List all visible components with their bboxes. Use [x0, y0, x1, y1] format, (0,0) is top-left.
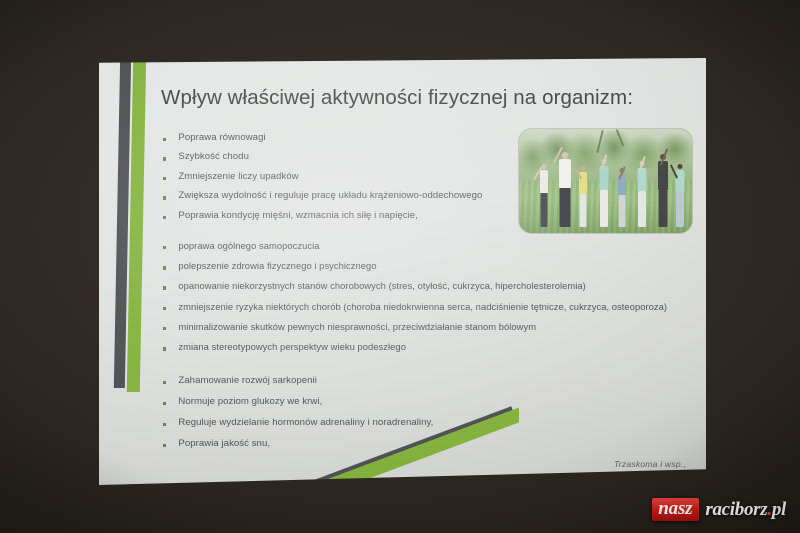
list-item: Zahamowanie rozwój sarkopenii: [161, 375, 694, 387]
photo-figure: [555, 152, 575, 227]
bullet-dot-icon: [163, 246, 166, 249]
photo-figure-legs: [560, 188, 571, 227]
list-item-label: Poprawia jakość snu,: [178, 438, 270, 450]
photo-figure-torso: [658, 161, 668, 190]
photo-figure-legs: [658, 190, 667, 226]
photo-figure: [536, 162, 552, 226]
list-item-label: zmniejszenie ryzyka niektórych chorób (c…: [178, 301, 667, 313]
watermark-domain: raciborz.pl: [705, 500, 786, 519]
photo-figure: [616, 166, 629, 226]
list-item: minimalizowanie skutków pewnych niespraw…: [161, 321, 694, 333]
bullet-dot-icon: [163, 138, 166, 141]
photo-figure-legs: [676, 192, 684, 227]
bullet-dot-icon: [163, 307, 166, 310]
watermark-tld: pl: [772, 499, 786, 520]
list-item: zmniejszenie ryzyka niektórych chorób (c…: [161, 301, 694, 313]
photo-figure-legs: [638, 191, 646, 227]
site-watermark: nasz raciborz.pl: [652, 496, 786, 523]
list-item: opanowanie niekorzystnych stanów chorobo…: [161, 280, 694, 292]
list-item-label: Reguluje wydzielanie hormonów adrenaliny…: [178, 417, 433, 429]
bullet-group-2: poprawa ogólnego samopoczucia polepszeni…: [161, 240, 694, 353]
photo-figure-legs: [619, 195, 626, 227]
bullet-group-3: Zahamowanie rozwój sarkopenii Normuje po…: [161, 375, 694, 450]
list-item-label: Szybkość chodu: [178, 151, 249, 163]
photo-figure-head: [677, 164, 682, 169]
exercise-group-photo: [518, 128, 693, 234]
photo-figure: [673, 162, 687, 226]
list-item: zmiana stereotypowych perspektyw wieku p…: [161, 341, 694, 353]
bullet-dot-icon: [163, 216, 166, 219]
photo-figure-head: [562, 152, 569, 159]
list-item: poprawa ogólnego samopoczucia: [161, 240, 694, 252]
list-item-label: polepszenie zdrowia fizycznego i psychic…: [178, 260, 376, 272]
list-item-label: Poprawia kondycję mięśni, wzmacnia ich s…: [178, 210, 418, 222]
slide-content: Wpływ właściwej aktywności fizycznej na …: [161, 72, 694, 479]
slide-title: Wpływ właściwej aktywności fizycznej na …: [161, 86, 694, 110]
projection-screen: Wpływ właściwej aktywności fizycznej na …: [99, 58, 706, 485]
photo-figure-legs: [541, 193, 548, 227]
photo-figure-torso: [559, 159, 571, 187]
list-item: polepszenie zdrowia fizycznego i psychic…: [161, 260, 694, 272]
photo-figure: [597, 158, 611, 227]
photo-figure-legs: [600, 190, 608, 227]
list-item: Poprawia jakość snu,: [161, 438, 694, 450]
slide-citation: Trzaskoma i wsp.,: [614, 459, 686, 469]
list-item-label: minimalizowanie skutków pewnych niespraw…: [178, 321, 536, 333]
list-item-label: Zmniejszenie liczy upadków: [178, 171, 298, 183]
photo-figure-head: [581, 166, 586, 171]
list-item-label: poprawa ogólnego samopoczucia: [178, 240, 319, 252]
bullet-dot-icon: [163, 381, 166, 384]
watermark-badge: nasz: [652, 498, 699, 521]
bullet-dot-icon: [163, 347, 166, 350]
bullet-dot-icon: [163, 177, 166, 180]
photo-figure-torso: [540, 170, 548, 193]
bullet-dot-icon: [163, 286, 166, 289]
photo-figure-torso: [675, 170, 684, 192]
slide-surface: Wpływ właściwej aktywności fizycznej na …: [99, 58, 706, 485]
list-item-label: Poprawa równowagi: [178, 132, 265, 144]
bullet-dot-icon: [163, 266, 166, 269]
list-item-label: opanowanie niekorzystnych stanów chorobo…: [178, 280, 585, 292]
bullet-dot-icon: [163, 402, 166, 405]
list-item: Normuje poziom glukozy we krwi,: [161, 396, 694, 408]
list-item-label: Zwiększa wydolność i reguluje pracę ukła…: [178, 190, 482, 202]
bullet-dot-icon: [163, 423, 166, 426]
list-item-label: zmiana stereotypowych perspektyw wieku p…: [178, 341, 406, 353]
bullet-dot-icon: [163, 157, 166, 160]
bullet-dot-icon: [163, 327, 166, 330]
bullet-dot-icon: [163, 444, 166, 447]
bullet-dot-icon: [163, 196, 166, 199]
list-item-label: Zahamowanie rozwój sarkopenii: [178, 375, 317, 387]
photo-figure: [656, 154, 670, 227]
photo-of-projected-slide: Wpływ właściwej aktywności fizycznej na …: [0, 0, 800, 533]
photo-figure: [576, 164, 590, 226]
list-item: Reguluje wydzielanie hormonów adrenaliny…: [161, 417, 694, 429]
watermark-domain-name: raciborz: [705, 499, 767, 520]
photo-figure: [635, 160, 649, 227]
list-item-label: Normuje poziom glukozy we krwi,: [178, 396, 322, 408]
photo-figure-legs: [580, 194, 587, 227]
